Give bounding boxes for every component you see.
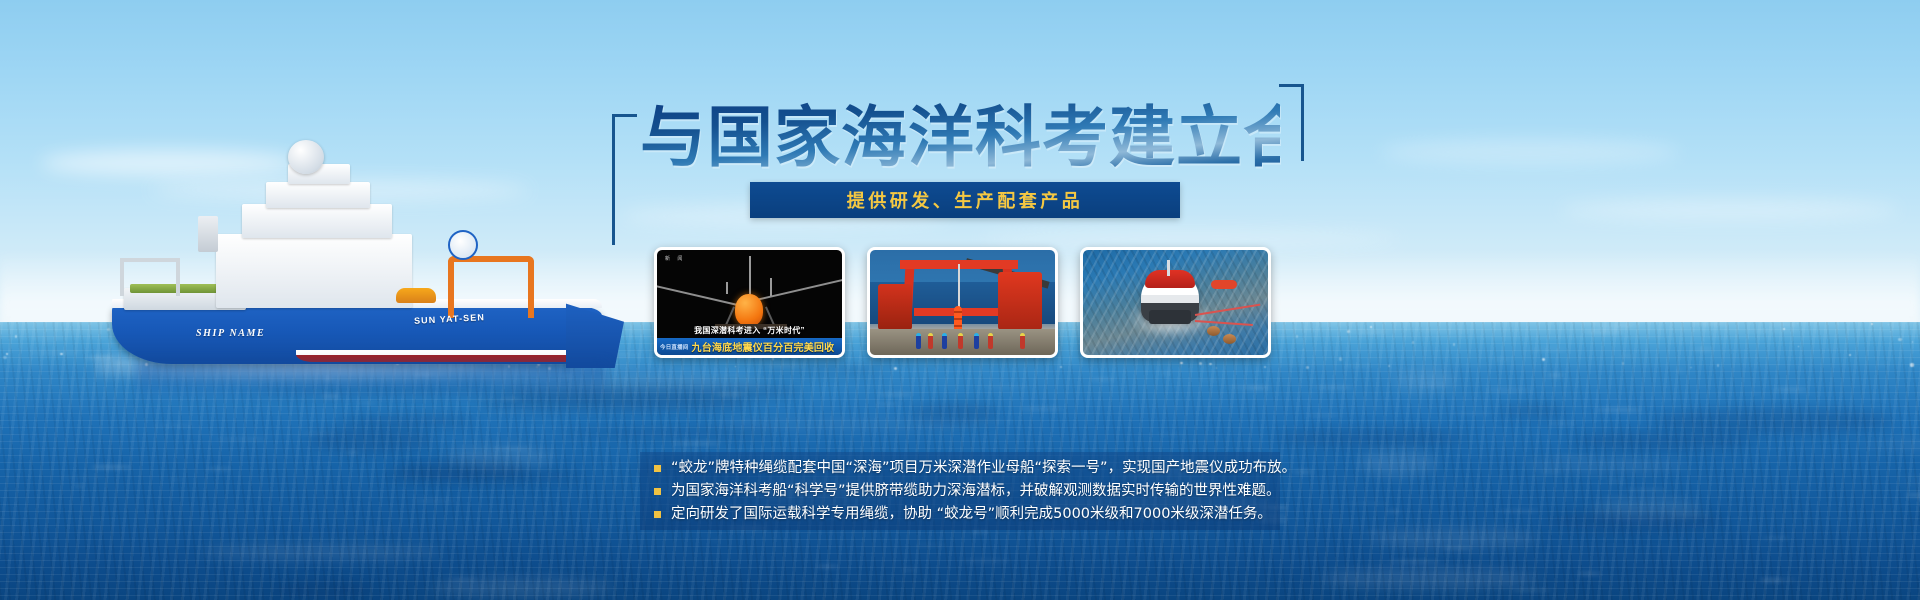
water-sparkle — [1339, 357, 1342, 360]
deck-crane-right — [998, 272, 1042, 330]
water-glint — [1091, 378, 1115, 381]
water-glint — [1160, 372, 1172, 374]
banner-stage: SHIP NAME SUN YAT-SEN 与国家海洋科考建立合作 提供研发、生… — [0, 0, 1920, 600]
ticker-headline: 九台海底地震仪百分百完美回收 — [692, 339, 842, 354]
cloud — [1380, 140, 1680, 164]
seismometer-pod — [735, 294, 763, 326]
list-item: 为国家海洋科考船“科学号”提供脐带缆助力深海潜标，并破解观测数据实时传输的世界性… — [654, 481, 1280, 502]
water-sparkle — [1912, 341, 1913, 342]
water-swell — [1903, 513, 1920, 527]
water-swell — [1368, 529, 1540, 547]
water-glint — [1548, 373, 1564, 374]
tripod-leg — [765, 306, 775, 325]
water-glint — [1825, 347, 1844, 349]
water-glint — [1667, 327, 1688, 328]
water-glint — [1343, 502, 1391, 504]
water-swell — [197, 545, 443, 559]
water-glint — [74, 484, 84, 488]
water-glint — [359, 528, 401, 530]
tripod-leg — [725, 306, 735, 325]
water-sparkle — [1370, 326, 1372, 328]
water-sparkle — [1209, 363, 1212, 366]
stern-a-frame — [120, 258, 180, 296]
support-boat — [1211, 280, 1237, 289]
water-swell — [1318, 568, 1541, 589]
water-glint — [29, 352, 81, 354]
water-glint — [1606, 480, 1626, 482]
water-glint — [671, 442, 721, 446]
water-glint — [1387, 510, 1401, 513]
water-sparkle — [15, 335, 17, 337]
water-glint — [306, 453, 347, 454]
water-swell — [1653, 408, 1894, 434]
thumbnail-a-frame-crane-deployment[interactable] — [867, 247, 1058, 358]
cloud — [980, 230, 1400, 248]
water-sparkle — [1798, 346, 1799, 347]
water-sparkle — [1898, 338, 1901, 341]
water-swell — [1522, 460, 1689, 471]
ship-funnel — [198, 216, 218, 252]
cloud — [1560, 200, 1900, 220]
water-glint — [1228, 386, 1272, 389]
water-glint — [970, 530, 989, 534]
superstructure-level-2 — [242, 204, 392, 238]
hoist-wire — [726, 282, 728, 294]
water-swell — [1898, 478, 1920, 485]
water-glint — [1314, 386, 1352, 389]
water-glint — [1419, 384, 1447, 386]
water-glint — [1619, 355, 1633, 358]
water-glint — [1760, 329, 1798, 333]
thumbnail-jiaolong-submersible-recovery[interactable] — [1080, 247, 1271, 358]
water-glint — [1748, 330, 1769, 332]
water-glint — [1344, 331, 1384, 332]
crew-member — [916, 335, 921, 349]
water-glint — [207, 467, 231, 470]
water-glint — [1156, 433, 1185, 435]
water-swell — [1570, 432, 1755, 450]
winch-line — [958, 264, 960, 312]
water-glint — [1539, 470, 1561, 474]
water-glint — [1442, 547, 1471, 549]
bullet-text: “蛟龙”牌特种绳缆配套中国“深海”项目万米深潜作业母船“探索一号”，实现国产地震… — [671, 458, 1296, 479]
water-glint — [1202, 380, 1220, 382]
water-glint — [1693, 347, 1713, 351]
water-glint — [1877, 364, 1888, 365]
water-glint — [1274, 328, 1323, 330]
helmet — [1020, 333, 1025, 336]
water-glint — [59, 477, 105, 479]
water-sparkle — [1890, 331, 1891, 332]
water-sparkle — [1388, 365, 1390, 367]
helmet — [988, 333, 993, 336]
water-glint — [1905, 493, 1920, 497]
water-glint — [169, 479, 183, 480]
water-swell — [1498, 405, 1566, 417]
page-title: 与国家海洋科考建立合作 — [640, 96, 1280, 180]
water-sparkle — [1910, 363, 1913, 366]
water-glint — [1359, 331, 1389, 333]
water-glint — [1365, 530, 1383, 533]
water-sparkle — [1296, 335, 1299, 338]
water-swell — [557, 428, 778, 439]
water-glint — [31, 337, 67, 340]
deck-crane-left — [878, 284, 912, 330]
water-glint — [967, 421, 1018, 423]
crew-member — [958, 335, 963, 349]
water-swell — [1273, 429, 1469, 447]
water-glint — [1675, 369, 1684, 373]
subtitle-ribbon: 提供研发、生产配套产品 — [750, 182, 1180, 218]
water-glint — [1547, 374, 1564, 377]
water-sparkle — [1797, 323, 1798, 324]
water-glint — [1574, 322, 1586, 323]
water-sparkle — [1871, 323, 1873, 325]
water-sparkle — [1849, 354, 1851, 356]
thumbnail-row: 新 闻 我国深潜科考进入 “万米时代” 今日直播间 九台海底地震仪百分百完美回收 — [654, 247, 1271, 358]
water-sparkle — [735, 366, 736, 367]
water-sparkle — [1542, 358, 1545, 361]
water-glint — [1497, 510, 1540, 512]
hull-name-text: SHIP NAME — [196, 328, 265, 339]
crew-member — [942, 335, 947, 349]
water-glint — [1484, 388, 1535, 392]
helmet — [928, 333, 933, 336]
water-glint — [1278, 363, 1326, 364]
water-swell — [754, 366, 888, 374]
crew-member — [928, 335, 933, 349]
water-glint — [493, 411, 531, 413]
helmet — [916, 333, 921, 336]
radar-radome — [288, 140, 324, 174]
water-glint — [1512, 589, 1552, 592]
water-glint — [817, 565, 838, 568]
water-glint — [1624, 489, 1667, 491]
water-sparkle — [772, 358, 774, 360]
helmet — [942, 333, 947, 336]
water-swell — [307, 428, 434, 452]
bullet-square-icon — [654, 511, 661, 518]
water-glint — [875, 403, 899, 405]
bullet-panel: “蛟龙”牌特种绳缆配套中国“深海”项目万米深潜作业母船“探索一号”，实现国产地震… — [640, 452, 1280, 530]
water-glint — [493, 448, 532, 450]
water-glint — [901, 569, 918, 571]
water-glint — [1595, 408, 1644, 412]
water-glint — [1382, 369, 1419, 371]
helmet — [958, 333, 963, 336]
water-glint — [1313, 323, 1363, 325]
water-swell — [1591, 499, 1702, 519]
water-glint — [1773, 388, 1807, 391]
water-sparkle — [1199, 362, 1202, 365]
headline-block: 与国家海洋科考建立合作 — [640, 96, 1280, 182]
water-glint — [1668, 513, 1714, 517]
superstructure-level-3 — [266, 182, 370, 208]
bullet-text: 定向研发了国际运载科学专用绳缆，协助 “蛟龙号”顺利完成5000米级和7000米… — [671, 504, 1272, 525]
water-swell — [272, 582, 374, 597]
lifeboat — [396, 288, 436, 303]
ticker-tag: 今日直播间 — [657, 343, 692, 351]
water-glint — [1884, 325, 1912, 327]
water-glint — [1388, 560, 1440, 563]
crew-member — [1020, 335, 1025, 349]
water-swell — [705, 421, 986, 428]
water-sparkle — [1306, 366, 1309, 369]
water-glint — [580, 528, 610, 529]
water-glint — [451, 578, 477, 580]
water-glint — [1581, 322, 1603, 325]
marker-buoy — [1207, 326, 1220, 336]
water-glint — [1770, 323, 1798, 326]
water-sparkle — [1453, 343, 1456, 346]
list-item: “蛟龙”牌特种绳缆配套中国“深海”项目万米深潜作业母船“探索一号”，实现国产地震… — [654, 458, 1280, 479]
water-swell — [429, 578, 614, 598]
submersible-manipulator — [1149, 310, 1191, 324]
water-glint — [914, 544, 948, 546]
crew-member — [988, 335, 993, 349]
water-glint — [1528, 348, 1567, 351]
list-item: 定向研发了国际运载科学专用绳缆，协助 “蛟龙号”顺利完成5000米级和7000米… — [654, 504, 1280, 525]
water-glint — [216, 438, 266, 439]
water-glint — [412, 500, 457, 502]
water-glint — [1344, 365, 1372, 367]
water-swell — [911, 403, 998, 423]
water-glint — [1785, 578, 1795, 582]
water-glint — [1020, 407, 1064, 411]
water-sparkle — [1690, 367, 1692, 369]
water-glint — [1584, 330, 1624, 334]
water-glint — [152, 424, 196, 427]
water-glint — [1667, 340, 1709, 344]
water-glint — [1271, 336, 1292, 338]
water-glint — [765, 364, 806, 367]
water-sparkle — [1264, 366, 1266, 368]
water-swell — [381, 469, 585, 483]
water-swell — [337, 415, 476, 426]
superstructure-level-1 — [216, 234, 412, 308]
water-glint — [1749, 392, 1760, 394]
water-sparkle — [6, 353, 7, 354]
water-glint — [1239, 593, 1261, 595]
hoist-wire — [770, 278, 772, 296]
crew-member — [974, 335, 979, 349]
subtitle-text: 提供研发、生产配套产品 — [847, 187, 1084, 213]
water-glint — [1760, 578, 1785, 582]
channel-label: 新 闻 — [665, 255, 685, 262]
helmet — [974, 333, 979, 336]
ship-emblem — [448, 230, 478, 260]
water-glint — [1528, 477, 1546, 479]
hoist-wire — [749, 256, 751, 296]
water-sparkle — [1622, 362, 1624, 364]
water-glint — [91, 465, 132, 469]
water-sparkle — [60, 353, 63, 356]
water-glint — [1450, 412, 1493, 415]
water-sparkle — [1180, 362, 1182, 364]
water-sparkle — [1347, 330, 1350, 333]
bullet-text: 为国家海洋科考船“科学号”提供脐带缆助力深海潜标，并破解观测数据实时传输的世界性… — [671, 481, 1281, 502]
water-sparkle — [1216, 367, 1218, 369]
water-glint — [301, 432, 337, 434]
orange-deck-crane — [448, 256, 534, 318]
water-glint — [717, 392, 744, 396]
water-sparkle — [1783, 328, 1785, 330]
water-glint — [1420, 330, 1473, 332]
bullet-square-icon — [654, 488, 661, 495]
bracket-left-decoration — [612, 114, 637, 245]
water-glint — [1596, 324, 1633, 328]
water-sparkle — [894, 367, 897, 370]
thumbnail-deep-sea-news-broadcast[interactable]: 新 闻 我国深潜科考进入 “万米时代” 今日直播间 九台海底地震仪百分百完美回收 — [654, 247, 845, 358]
news-ticker-bar: 今日直播间 九台海底地震仪百分百完美回收 — [657, 338, 842, 355]
water-glint — [1612, 323, 1642, 325]
water-glint — [1492, 358, 1511, 362]
water-swell — [1858, 441, 1920, 449]
water-glint — [345, 451, 359, 454]
water-sparkle — [3, 356, 6, 359]
water-glint — [1307, 413, 1339, 417]
water-glint — [1577, 572, 1601, 575]
water-glint — [1656, 491, 1679, 492]
water-swell — [392, 460, 528, 479]
ship-reflection — [136, 362, 606, 402]
water-sparkle — [1717, 364, 1719, 366]
water-sparkle — [1412, 341, 1415, 344]
water-glint — [1295, 340, 1305, 342]
water-swell — [1545, 511, 1724, 531]
water-glint — [1548, 422, 1576, 425]
marker-buoy — [1223, 334, 1236, 344]
water-sparkle — [1303, 349, 1304, 350]
ship-boot-stripe — [296, 350, 602, 362]
submersible-red-sail — [1145, 270, 1195, 288]
water-glint — [37, 341, 56, 344]
bullet-square-icon — [654, 465, 661, 472]
water-glint — [980, 386, 1033, 389]
water-glint — [1692, 322, 1728, 325]
water-swell — [1395, 370, 1456, 391]
water-swell — [445, 446, 555, 468]
broadcast-caption: 我国深潜科考进入 “万米时代” — [657, 325, 842, 336]
water-glint — [878, 393, 912, 396]
water-glint — [961, 559, 1011, 562]
water-glint — [711, 539, 721, 542]
water-glint — [1551, 455, 1598, 459]
water-sparkle — [1060, 366, 1062, 368]
submersible-antenna — [1167, 260, 1170, 276]
research-vessel: SHIP NAME SUN YAT-SEN — [96, 138, 616, 408]
water-glint — [1247, 387, 1269, 389]
water-swell — [1358, 450, 1438, 476]
water-glint — [1762, 537, 1790, 539]
water-sparkle — [1888, 324, 1889, 325]
